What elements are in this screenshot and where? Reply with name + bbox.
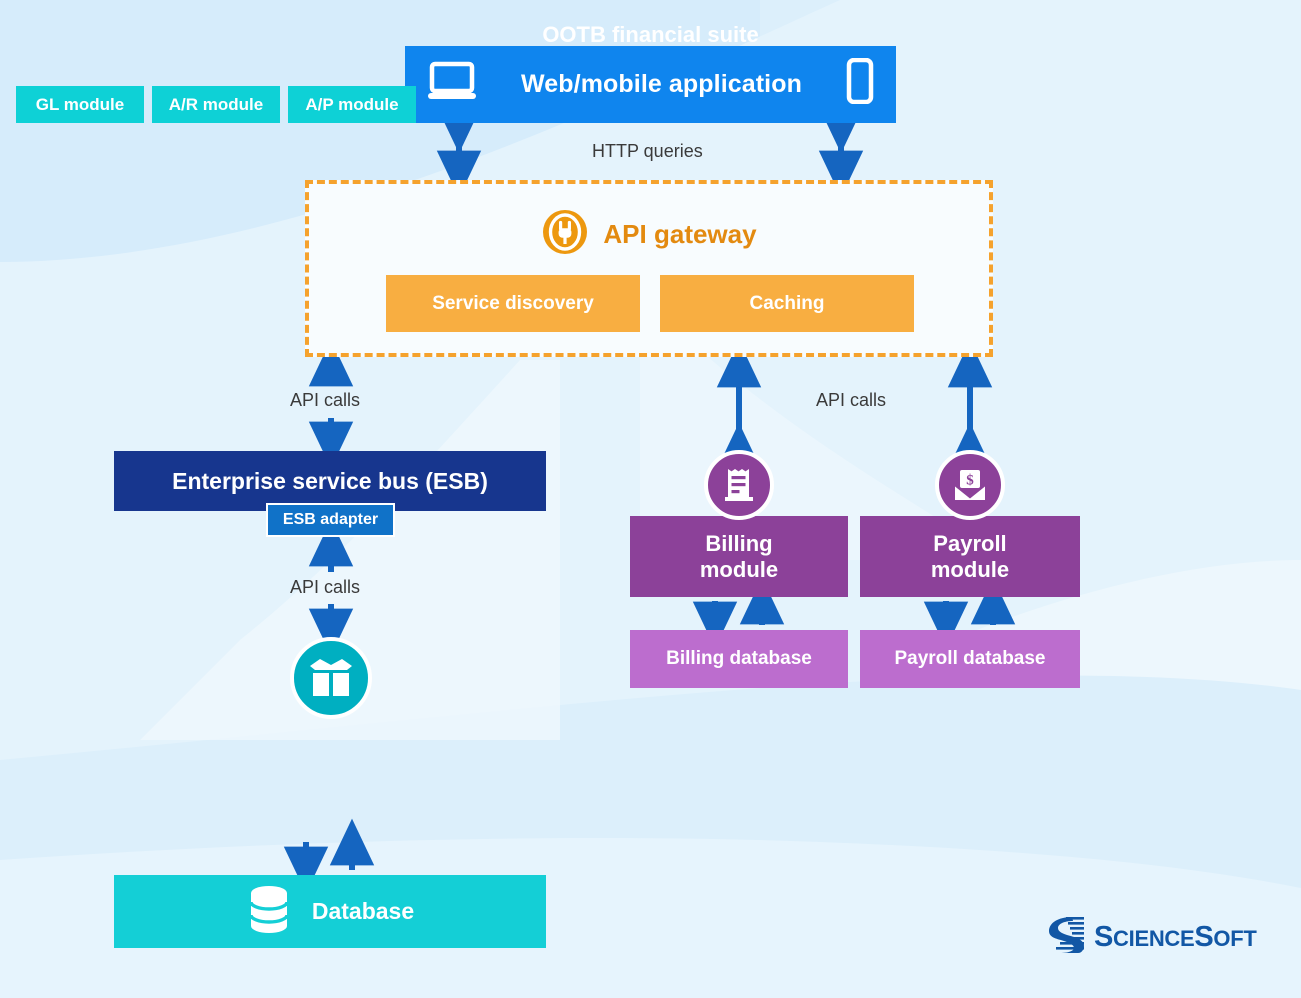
http-queries-label: HTTP queries (592, 141, 703, 162)
invoice-receipt-icon (704, 450, 774, 520)
ootb-module-list: GL module A/R module A/P module (16, 86, 416, 123)
api-gateway-header: API gateway (309, 208, 989, 261)
caching-chip[interactable]: Caching (660, 275, 914, 332)
payroll-module-label-line1: Payroll (933, 531, 1006, 556)
web-mobile-application-box[interactable]: Web/mobile application (405, 46, 896, 123)
billing-module-box[interactable]: Billing module (630, 516, 848, 597)
gl-module-chip[interactable]: GL module (16, 86, 144, 123)
sciencesoft-logo: SCIENCESOFT (1046, 915, 1257, 960)
open-box-icon (290, 637, 372, 719)
service-discovery-chip[interactable]: Service discovery (386, 275, 640, 332)
database-label: Database (312, 898, 414, 924)
ootb-title: OOTB financial suite (0, 22, 1301, 48)
enterprise-service-bus-box[interactable]: Enterprise service bus (ESB) (114, 451, 546, 511)
payroll-database-box[interactable]: Payroll database (860, 630, 1080, 688)
payroll-module-box[interactable]: Payroll module (860, 516, 1080, 597)
laptop-icon (427, 61, 477, 108)
money-envelope-icon: $ (935, 450, 1005, 520)
api-calls-adapter-label: API calls (290, 577, 360, 598)
api-gateway-title: API gateway (603, 219, 756, 250)
smartphone-icon (846, 58, 874, 111)
sciencesoft-wordmark: SCIENCESOFT (1094, 921, 1257, 954)
billing-module-label-line2: module (700, 557, 778, 582)
billing-module-label-line1: Billing (705, 531, 772, 556)
billing-database-box[interactable]: Billing database (630, 630, 848, 688)
ap-module-chip[interactable]: A/P module (288, 86, 416, 123)
esb-adapter-box[interactable]: ESB adapter (266, 503, 395, 537)
database-cylinder-icon (246, 884, 292, 939)
database-box[interactable]: Database (114, 875, 546, 948)
payroll-module-label-line2: module (931, 557, 1009, 582)
app-title: Web/mobile application (505, 70, 818, 99)
ar-module-chip[interactable]: A/R module (152, 86, 280, 123)
sciencesoft-s-mark (1046, 915, 1086, 960)
power-plug-icon (541, 208, 589, 261)
svg-text:$: $ (966, 473, 974, 489)
diagram-canvas: Web/mobile application HTTP queries API … (0, 0, 1301, 998)
api-calls-esb-label: API calls (290, 390, 360, 411)
api-calls-modules-label: API calls (816, 390, 886, 411)
